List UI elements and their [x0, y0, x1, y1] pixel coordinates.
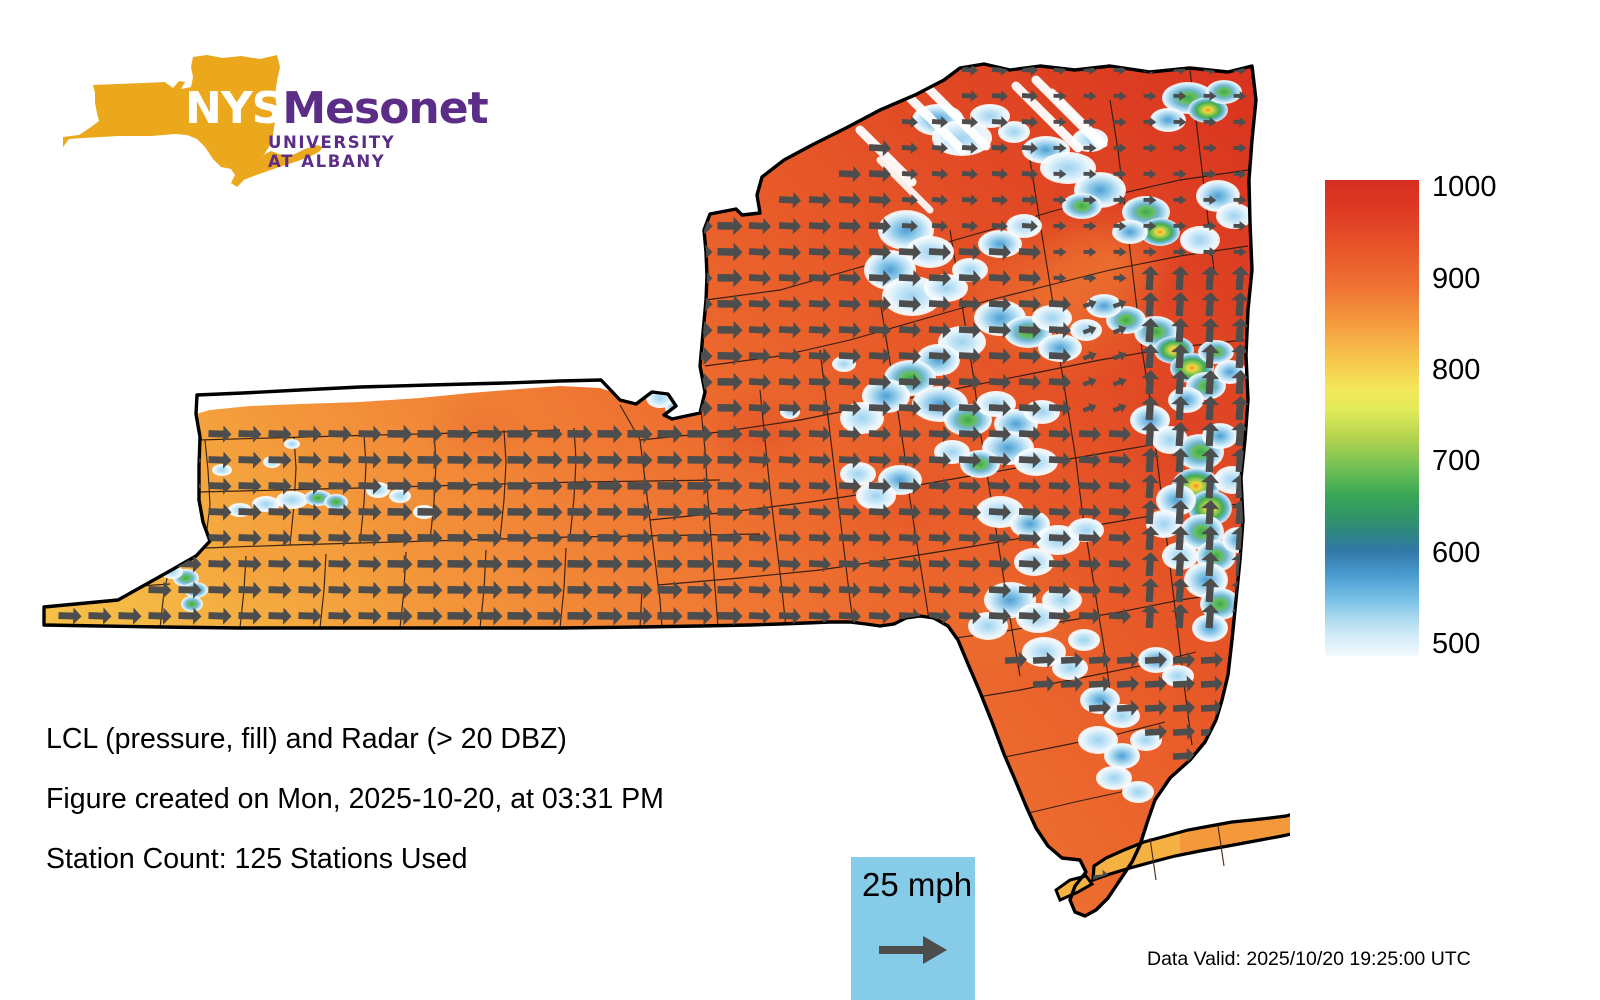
lcl-pressure-colorbar: [1325, 180, 1419, 656]
colorbar-tick-500: 500: [1432, 628, 1480, 661]
data-valid-timestamp: Data Valid: 2025/10/20 19:25:00 UTC: [1147, 948, 1471, 971]
figure-title: LCL (pressure, fill) and Radar (> 20 DBZ…: [46, 723, 567, 756]
logo-nys-text: NYS: [185, 83, 282, 134]
logo-wordmark: NYSMesonet: [185, 83, 488, 134]
colorbar-tick-800: 800: [1432, 354, 1480, 387]
colorbar-gradient: [1325, 180, 1419, 656]
logo-mesonet-text: Mesonet: [282, 83, 487, 134]
nys-mesonet-logo: NYSMesonet UNIVERSITY AT ALBANY: [55, 55, 400, 195]
colorbar-tick-1000: 1000: [1432, 171, 1497, 204]
colorbar-tick-600: 600: [1432, 537, 1480, 570]
figure-created-text: Figure created on Mon, 2025-10-20, at 03…: [46, 783, 664, 816]
logo-subtitle: UNIVERSITY AT ALBANY: [268, 133, 400, 171]
wind-scale-legend: 25 mph: [851, 857, 975, 1000]
wind-legend-label: 25 mph: [862, 866, 972, 904]
colorbar-tick-700: 700: [1432, 445, 1480, 478]
station-count-text: Station Count: 125 Stations Used: [46, 843, 467, 876]
wind-arrow-icon: [879, 933, 949, 967]
colorbar-tick-900: 900: [1432, 263, 1480, 296]
